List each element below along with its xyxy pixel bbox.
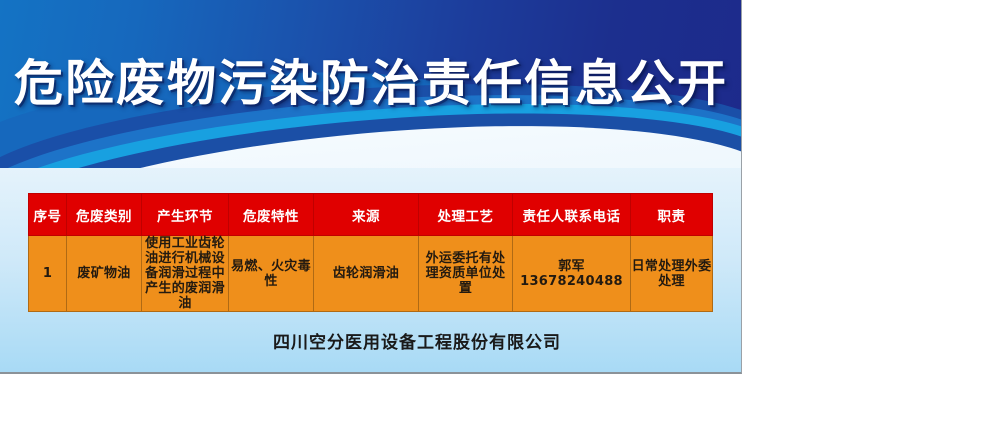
column-header-category: 危废类别 bbox=[67, 194, 142, 236]
cell-contact: 郭军 13678240488 bbox=[513, 236, 631, 312]
contact-person-name: 郭军 bbox=[513, 259, 630, 274]
cell-properties: 易燃、火灾毒性 bbox=[229, 236, 314, 312]
column-header-duty: 职责 bbox=[631, 194, 713, 236]
cell-category: 废矿物油 bbox=[67, 236, 142, 312]
column-header-contact: 责任人联系电话 bbox=[513, 194, 631, 236]
column-header-properties: 危废特性 bbox=[229, 194, 314, 236]
table-row: 1 废矿物油 使用工业齿轮油进行机械设备润滑过程中产生的废润滑油 易燃、火灾毒性… bbox=[29, 236, 713, 312]
hazardous-waste-table: 序号 危废类别 产生环节 危废特性 来源 处理工艺 责任人联系电话 职责 1 废… bbox=[28, 193, 713, 312]
cell-duty: 日常处理外委处理 bbox=[631, 236, 713, 312]
column-header-stage: 产生环节 bbox=[142, 194, 229, 236]
column-header-process: 处理工艺 bbox=[419, 194, 513, 236]
company-name: 四川空分医用设备工程股份有限公司 bbox=[0, 328, 742, 353]
contact-phone-number: 13678240488 bbox=[513, 274, 630, 289]
table-header-row: 序号 危废类别 产生环节 危废特性 来源 处理工艺 责任人联系电话 职责 bbox=[29, 194, 713, 236]
cell-process: 外运委托有处理资质单位处置 bbox=[419, 236, 513, 312]
cell-index: 1 bbox=[29, 236, 67, 312]
information-disclosure-poster: 危险废物污染防治责任信息公开 序号 危废类别 产生环节 危废特性 来源 处理工艺… bbox=[0, 0, 742, 374]
column-header-source: 来源 bbox=[314, 194, 419, 236]
poster-banner: 危险废物污染防治责任信息公开 bbox=[0, 0, 742, 168]
cell-source: 齿轮润滑油 bbox=[314, 236, 419, 312]
cell-stage: 使用工业齿轮油进行机械设备润滑过程中产生的废润滑油 bbox=[142, 236, 229, 312]
poster-title: 危险废物污染防治责任信息公开 bbox=[0, 44, 742, 115]
column-header-index: 序号 bbox=[29, 194, 67, 236]
